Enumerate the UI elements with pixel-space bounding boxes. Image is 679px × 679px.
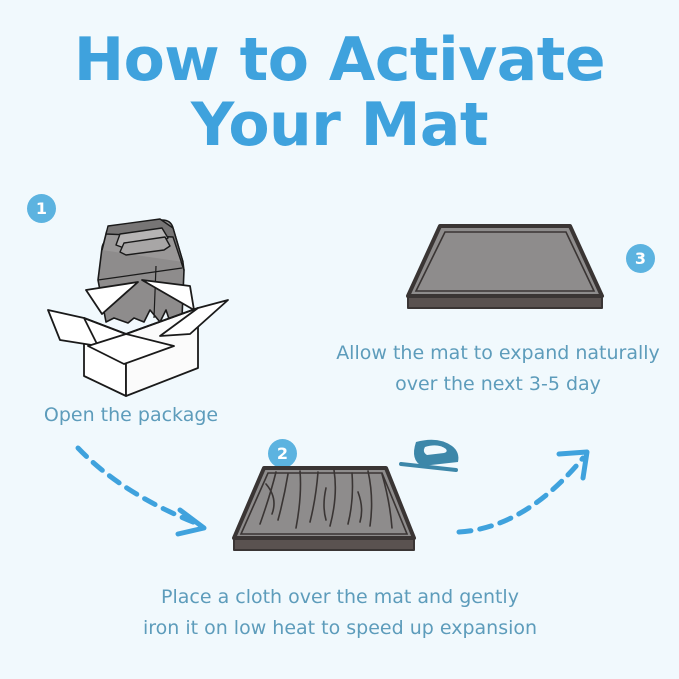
- mat-with-cloth-illustration: [230, 462, 418, 564]
- step-badge-3: 3: [626, 244, 655, 273]
- step-caption-3: Allow the mat to expand naturally over t…: [320, 338, 676, 400]
- page-title-line-1: How to Activate: [0, 28, 679, 93]
- dashed-curved-arrow-down-right-icon: [72, 442, 232, 546]
- dashed-curved-arrow-up-right-icon: [455, 442, 605, 546]
- flat-mat-illustration: [400, 218, 610, 322]
- infographic-canvas: How to Activate Your Mat 1: [0, 0, 679, 679]
- page-title: How to Activate Your Mat: [0, 28, 679, 158]
- open-box-illustration: [42, 218, 242, 402]
- rolled-mat-shape: [98, 219, 184, 323]
- step-caption-2: Place a cloth over the mat and gently ir…: [104, 582, 576, 644]
- step-caption-1: Open the package: [0, 400, 262, 431]
- page-title-line-2: Your Mat: [0, 93, 679, 158]
